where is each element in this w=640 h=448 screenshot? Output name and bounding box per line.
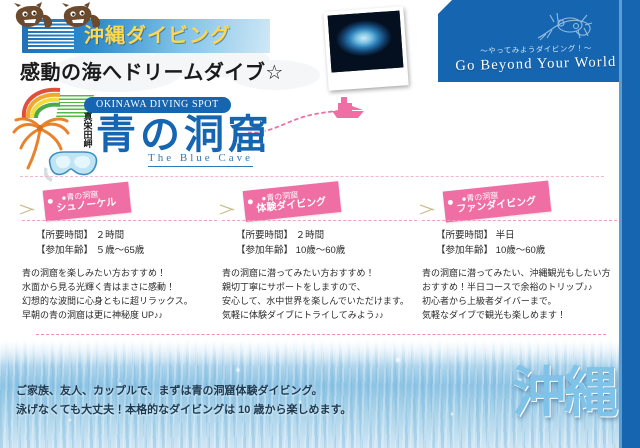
frame-right-border bbox=[622, 0, 640, 448]
cape-label: 真栄田岬 bbox=[81, 112, 94, 150]
age-label: 【参加年齢】 bbox=[36, 245, 93, 256]
duration-label: 【所要時間】 bbox=[436, 230, 493, 241]
course-specs: 【所要時間】 ２時間 【参加年齢】 10歳〜60歳 bbox=[236, 228, 345, 258]
course-specs: 【所要時間】 ２時間 【参加年齢】 ５歳〜65歳 bbox=[36, 228, 144, 258]
shisa-lion-icon bbox=[60, 1, 102, 31]
duration-value: ２時間 bbox=[96, 230, 125, 241]
age-row: 【参加年齢】 ５歳〜65歳 bbox=[36, 243, 144, 258]
description-line: 幻想的な波間に心身ともに超リラックス。 bbox=[22, 294, 220, 308]
course-description: 青の洞窟を楽しみたい方おすすめ！ 水面から見る光輝く青はまさに感動！ 幻想的な波… bbox=[22, 266, 220, 322]
footer-line: ご家族、友人、カップルで、まずは青の洞窟体験ダイビング。 bbox=[16, 382, 351, 401]
description-line: 安心して、水中世界を楽しんでいただけます。 bbox=[222, 294, 420, 308]
duration-label: 【所要時間】 bbox=[36, 230, 93, 241]
age-value: 10歳〜60歳 bbox=[296, 245, 346, 256]
age-row: 【参加年齢】 10歳〜60歳 bbox=[236, 243, 345, 258]
boat-icon bbox=[330, 96, 368, 120]
section-divider-top bbox=[20, 176, 604, 177]
cape-label-text: 真栄田岬 bbox=[83, 112, 93, 148]
description-line: 青の洞窟を楽しみたい方おすすめ！ bbox=[22, 266, 220, 280]
banner-title: 沖縄ダイビング bbox=[84, 22, 264, 50]
description-line: 気軽なダイブで観光も楽しめます！ bbox=[422, 308, 620, 322]
course-column: ●青の洞窟 ファンダイビング 【所要時間】 半日 【参加年齢】 10歳〜60歳 … bbox=[422, 186, 617, 220]
duration-row: 【所要時間】 ２時間 bbox=[36, 228, 144, 243]
description-line: 親切丁寧にサポートをしますので、 bbox=[222, 280, 420, 294]
shisa-lion-icon bbox=[12, 1, 54, 31]
duration-row: 【所要時間】 半日 bbox=[436, 228, 545, 243]
description-line: 初心者から上級者ダイバーまで。 bbox=[422, 294, 620, 308]
sub-headline: 感動の海へドリームダイブ☆ bbox=[20, 56, 284, 85]
spot-pill-label: OKINAWA DIVING SPOT bbox=[84, 97, 231, 113]
duration-label: 【所要時間】 bbox=[236, 230, 293, 241]
course-description: 青の洞窟に潜ってみたい、沖縄観光もしたい方 おすすめ！半日コースで余裕のトリップ… bbox=[422, 266, 620, 322]
description-line: 水面から見る光輝く青はまさに感動！ bbox=[22, 280, 220, 294]
description-line: 青の洞窟に潜ってみたい方おすすめ！ bbox=[222, 266, 420, 280]
course-description: 青の洞窟に潜ってみたい方おすすめ！ 親切丁寧にサポートをしますので、 安心して、… bbox=[222, 266, 420, 322]
description-line: 青の洞窟に潜ってみたい、沖縄観光もしたい方 bbox=[422, 266, 620, 280]
course-tag: ●青の洞窟 シュノーケル bbox=[43, 182, 132, 222]
course-tag: ●青の洞窟 ファンダイビング bbox=[443, 181, 552, 223]
description-line: 気軽に体験ダイブにトライしてみよう♪♪ bbox=[222, 308, 420, 322]
course-column: ●青の洞窟 シュノーケル 【所要時間】 ２時間 【参加年齢】 ５歳〜65歳 青の… bbox=[22, 186, 217, 220]
poster-root: 〜やってみようダイビング！〜 Go Beyond Your World bbox=[0, 0, 640, 448]
course-column: ●青の洞窟 体験ダイビング 【所要時間】 ２時間 【参加年齢】 10歳〜60歳 … bbox=[222, 186, 417, 220]
course-divider bbox=[222, 220, 417, 221]
course-tag: ●青の洞窟 体験ダイビング bbox=[243, 181, 342, 222]
footer-message: ご家族、友人、カップルで、まずは青の洞窟体験ダイビング。 泳げなくても大丈夫！本… bbox=[16, 382, 351, 420]
age-value: ５歳〜65歳 bbox=[96, 245, 145, 256]
description-line: おすすめ！半日コースで余裕のトリップ♪♪ bbox=[422, 280, 620, 294]
age-label: 【参加年齢】 bbox=[236, 245, 293, 256]
blue-cave-photo bbox=[323, 6, 408, 90]
description-line: 早朝の青の洞窟は更に神秘度 UP♪♪ bbox=[22, 308, 220, 322]
duration-value: ２時間 bbox=[296, 230, 325, 241]
age-value: 10歳〜60歳 bbox=[496, 245, 546, 256]
course-specs: 【所要時間】 半日 【参加年齢】 10歳〜60歳 bbox=[436, 228, 545, 258]
cave-title: 青の洞窟 bbox=[96, 113, 272, 157]
blue-cave-photo-image bbox=[328, 11, 404, 73]
age-label: 【参加年齢】 bbox=[436, 245, 493, 256]
course-divider bbox=[422, 220, 617, 221]
duration-row: 【所要時間】 ２時間 bbox=[236, 228, 345, 243]
age-row: 【参加年齢】 10歳〜60歳 bbox=[436, 243, 545, 258]
course-divider bbox=[22, 220, 217, 221]
section-divider-bottom bbox=[36, 334, 606, 335]
okinawa-calligraphy: 沖縄 bbox=[512, 366, 616, 420]
brand-panel: 〜やってみようダイビング！〜 Go Beyond Your World bbox=[438, 0, 640, 82]
cave-title-en: The Blue Cave bbox=[148, 152, 253, 167]
duration-value: 半日 bbox=[496, 230, 515, 241]
footer-line: 泳げなくても大丈夫！本格的なダイビングは 10 歳から楽しめます。 bbox=[16, 401, 351, 420]
